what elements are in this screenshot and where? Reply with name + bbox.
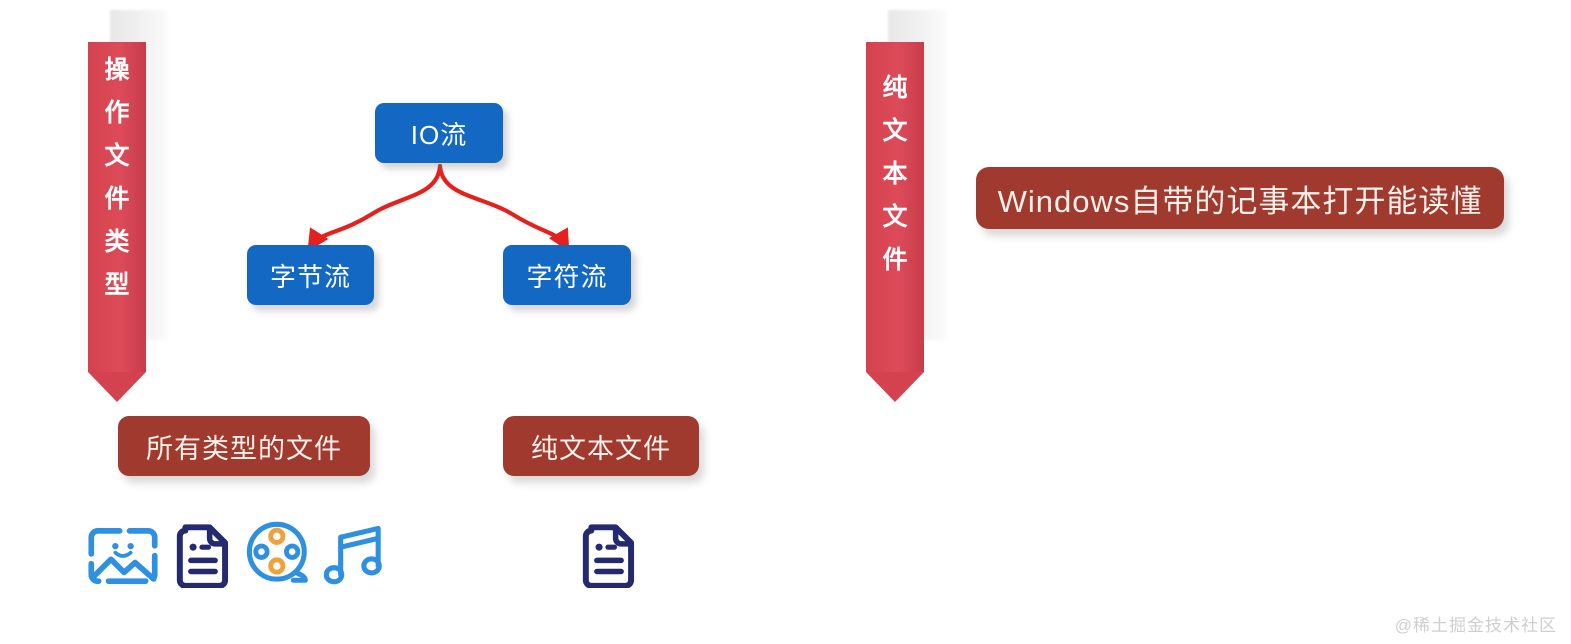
node-label: IO流 [411,115,467,152]
pill-label: Windows自带的记事本打开能读懂 [998,176,1483,221]
banner-char: 文 [866,119,924,144]
pill-plain-text-file[interactable]: 纯文本文件 [503,416,699,476]
node-label: 字节流 [270,257,351,294]
banner-body: 操 作 文 件 类 型 [88,42,146,372]
pill-label: 所有类型的文件 [146,427,342,466]
pill-label: 纯文本文件 [531,427,671,466]
diagram-canvas: 操 作 文 件 类 型 纯 文 本 文 件 [0,0,1571,644]
banner-char: 型 [88,273,146,298]
banner-arrow-tip [866,372,924,402]
banner-char: 本 [866,162,924,187]
banner-plain-text-file: 纯 文 本 文 件 [866,42,946,372]
arrow-to-char-stream [440,166,566,246]
banner-arrow-tip [88,372,146,402]
arrow-to-byte-stream [311,166,440,246]
pill-all-file-types[interactable]: 所有类型的文件 [118,416,370,476]
banner-char: 件 [866,248,924,273]
banner-char: 作 [88,101,146,126]
document-icon [174,524,232,588]
banner-char: 文 [866,205,924,230]
film-reel-icon [245,521,313,589]
image-icon [88,524,158,588]
banner-label-vertical: 纯 文 本 文 件 [866,42,924,273]
connector-arrows [0,0,1571,644]
node-label: 字符流 [526,257,607,294]
banner-operate-file-type: 操 作 文 件 类 型 [88,42,168,372]
document-icon [580,524,638,588]
banner-body: 纯 文 本 文 件 [866,42,924,372]
banner-char: 纯 [866,76,924,101]
node-byte-stream[interactable]: 字节流 [247,245,374,305]
watermark: @稀土掘金技术社区 [1395,611,1557,636]
music-note-icon [324,524,386,588]
node-char-stream[interactable]: 字符流 [503,245,631,305]
pill-notepad-readable[interactable]: Windows自带的记事本打开能读懂 [976,167,1504,229]
banner-char: 类 [88,230,146,255]
banner-char: 操 [88,58,146,83]
banner-char: 文 [88,144,146,169]
banner-char: 件 [88,187,146,212]
node-io-stream[interactable]: IO流 [375,103,503,163]
banner-label-vertical: 操 作 文 件 类 型 [88,42,146,298]
